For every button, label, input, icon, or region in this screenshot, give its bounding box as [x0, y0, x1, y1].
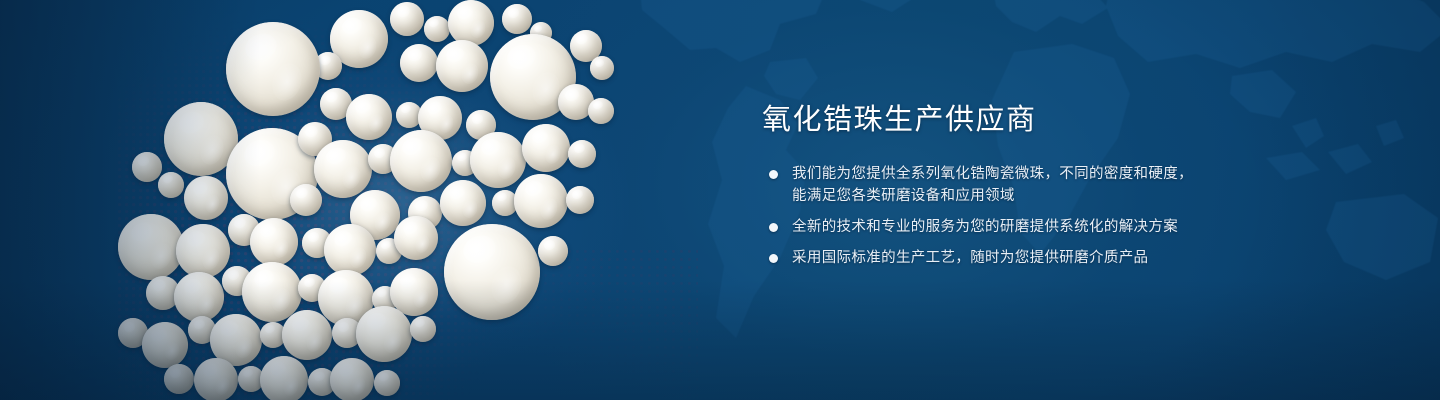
list-item: 我们能为您提供全系列氧化锆陶瓷微珠，不同的密度和硬度， 能满足您各类研磨设备和应… — [762, 163, 1322, 207]
dot-bullet-icon — [769, 223, 778, 232]
dot-bullet-icon — [769, 254, 778, 263]
hero-banner: 氧化锆珠生产供应商 我们能为您提供全系列氧化锆陶瓷微珠，不同的密度和硬度， 能满… — [0, 0, 1440, 400]
bullet-line: 能满足您各类研磨设备和应用领域 — [792, 185, 1322, 207]
banner-headline: 氧化锆珠生产供应商 — [762, 104, 1322, 137]
list-item: 采用国际标准的生产工艺，随时为您提供研磨介质产品 — [762, 247, 1322, 269]
dot-bullet-icon — [769, 170, 778, 179]
list-item: 全新的技术和专业的服务为您的研磨提供系统化的解决方案 — [762, 216, 1322, 238]
banner-text-column: 氧化锆珠生产供应商 我们能为您提供全系列氧化锆陶瓷微珠，不同的密度和硬度， 能满… — [762, 104, 1322, 269]
feature-bullet-list: 我们能为您提供全系列氧化锆陶瓷微珠，不同的密度和硬度， 能满足您各类研磨设备和应… — [762, 163, 1322, 269]
bullet-line: 采用国际标准的生产工艺，随时为您提供研磨介质产品 — [792, 247, 1322, 269]
bullet-line: 全新的技术和专业的服务为您的研磨提供系统化的解决方案 — [792, 216, 1322, 238]
bullet-line: 我们能为您提供全系列氧化锆陶瓷微珠，不同的密度和硬度， — [792, 163, 1322, 185]
